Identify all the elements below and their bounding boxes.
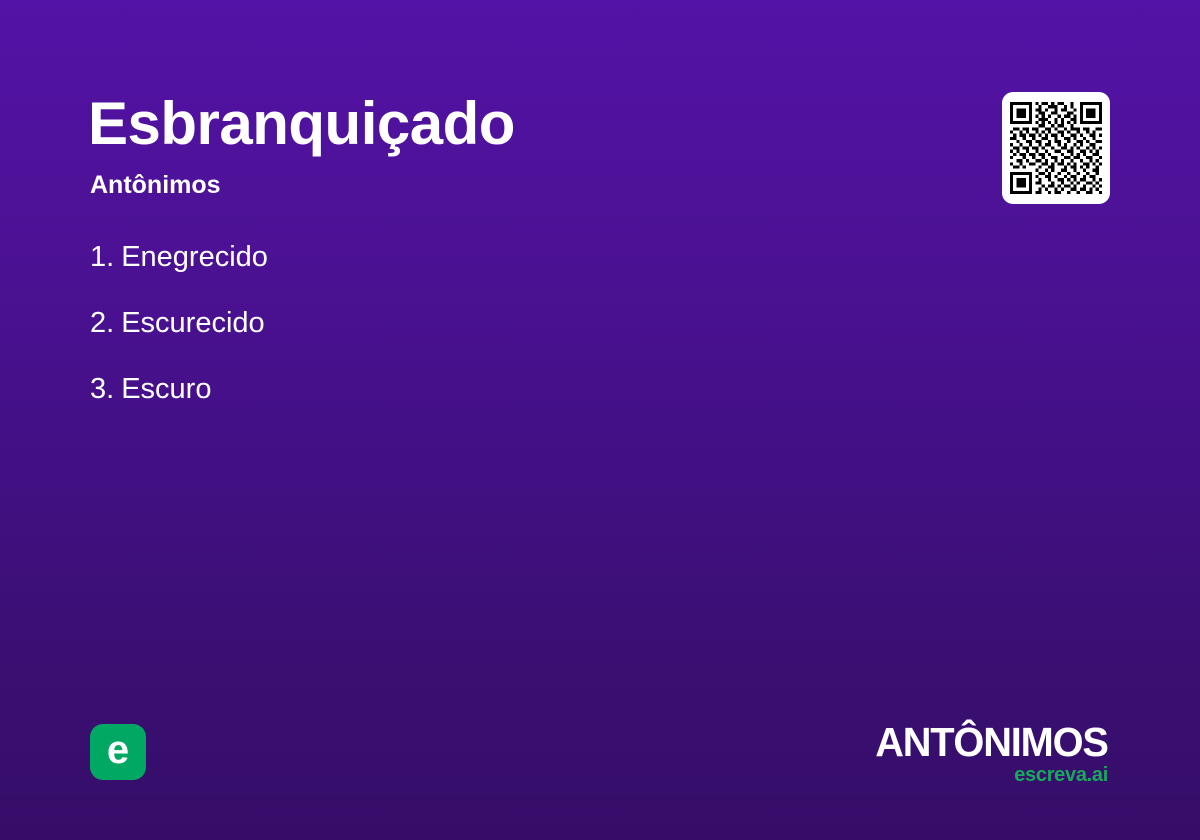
list-item-index: 1.: [90, 241, 114, 273]
brand-logo-subtitle: escreva.ai: [868, 764, 1108, 786]
page-title: Esbranquiçado: [88, 88, 515, 160]
badge-letter: e: [107, 730, 129, 770]
antonyms-list: 1.Enegrecido 2.Escurecido 3.Escuro: [90, 238, 268, 436]
list-item: 1.Enegrecido: [90, 238, 268, 276]
antonyms-card: Esbranquiçado Antônimos 1.Enegrecido 2.E…: [0, 0, 1200, 840]
brand-logo[interactable]: ANTÔNIMOS escreva.ai: [868, 722, 1108, 786]
list-item: 3.Escuro: [90, 370, 268, 408]
page-subtitle: Antônimos: [90, 170, 221, 200]
brand-logo-title: ANTÔNIMOS: [875, 722, 1108, 763]
list-item: 2.Escurecido: [90, 304, 268, 342]
list-item-label: Escurecido: [121, 307, 264, 339]
list-item-label: Escuro: [121, 373, 211, 405]
qr-code-container[interactable]: [1002, 92, 1110, 204]
qr-code-icon: [1010, 100, 1102, 196]
escreva-badge-icon[interactable]: e: [90, 724, 146, 780]
list-item-index: 2.: [90, 307, 114, 339]
list-item-label: Enegrecido: [121, 241, 268, 273]
list-item-index: 3.: [90, 373, 114, 405]
